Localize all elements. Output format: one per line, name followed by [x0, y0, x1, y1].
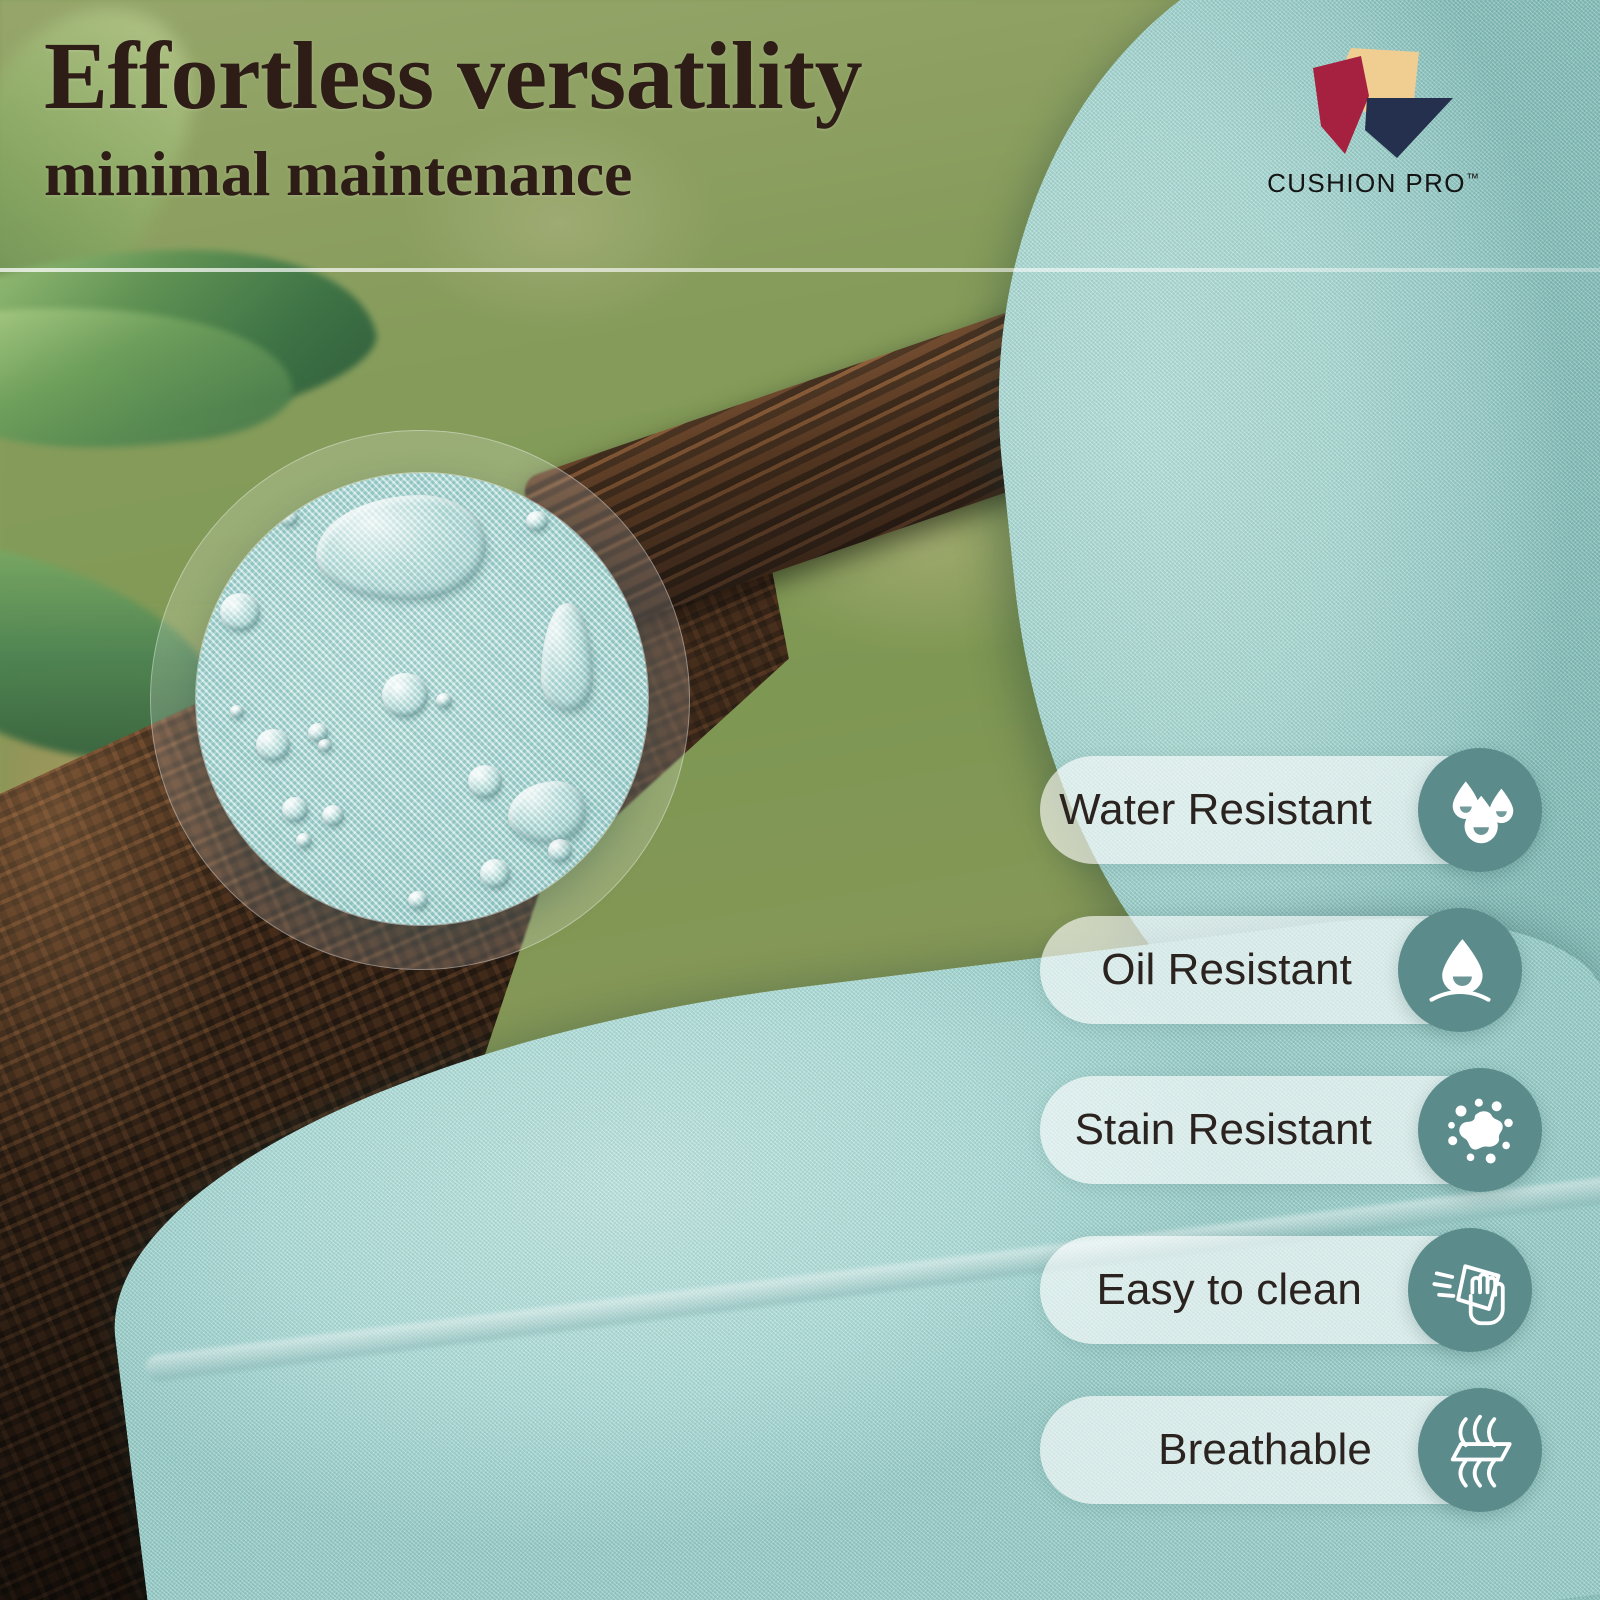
trademark-symbol: ™ [1466, 170, 1479, 185]
headline-secondary: minimal maintenance [44, 142, 862, 206]
water-droplet [468, 765, 502, 798]
feature-label: Oil Resistant [1101, 945, 1352, 995]
feature-pill-breathable[interactable]: Breathable [1040, 1396, 1500, 1504]
water-droplet [436, 693, 452, 708]
water-droplet [548, 839, 572, 862]
logo-shape-navy [1365, 98, 1453, 158]
water-droplet [296, 833, 312, 848]
headline-block: Effortless versatility minimal maintenan… [44, 28, 862, 206]
water-droplet [588, 869, 602, 882]
logo-shape-crimson [1313, 56, 1369, 154]
water-droplet [408, 891, 428, 909]
water-droplet [480, 859, 510, 888]
oil-drop-icon [1398, 908, 1522, 1032]
feature-label: Water Resistant [1059, 785, 1372, 835]
product-feature-banner: Effortless versatility minimal maintenan… [0, 0, 1600, 1600]
feature-list: Water Resistant Oil Resistant [1040, 756, 1600, 1556]
water-drops-icon [1418, 748, 1542, 872]
feature-pill-water-resistant[interactable]: Water Resistant [1040, 756, 1500, 864]
water-droplet [322, 805, 344, 826]
feature-label: Stain Resistant [1075, 1105, 1372, 1155]
brand-name: CUSHION PRO [1267, 168, 1466, 198]
feature-pill-oil-resistant[interactable]: Oil Resistant [1040, 916, 1480, 1024]
water-beading-closeup [196, 473, 648, 925]
water-droplet [230, 705, 244, 718]
water-droplet [282, 797, 308, 822]
water-droplet [220, 593, 260, 631]
water-droplet [382, 673, 428, 717]
water-droplet [280, 509, 298, 526]
feature-pill-stain-resistant[interactable]: Stain Resistant [1040, 1076, 1500, 1184]
logo-mark-icon [1273, 36, 1473, 164]
brand-wordmark: CUSHION PRO™ [1258, 168, 1488, 199]
water-droplet [526, 511, 548, 531]
water-droplet [318, 739, 332, 752]
hand-wiping-cloth-icon [1408, 1228, 1532, 1352]
feature-label: Easy to clean [1097, 1265, 1362, 1315]
headline-primary: Effortless versatility [44, 28, 862, 124]
water-droplet [256, 729, 290, 761]
feature-label: Breathable [1158, 1425, 1372, 1475]
stain-splatter-icon [1418, 1068, 1542, 1192]
airflow-fabric-icon [1418, 1388, 1542, 1512]
feature-pill-easy-to-clean[interactable]: Easy to clean [1040, 1236, 1490, 1344]
brand-logo: CUSHION PRO™ [1258, 36, 1488, 218]
header-divider [0, 268, 1600, 272]
